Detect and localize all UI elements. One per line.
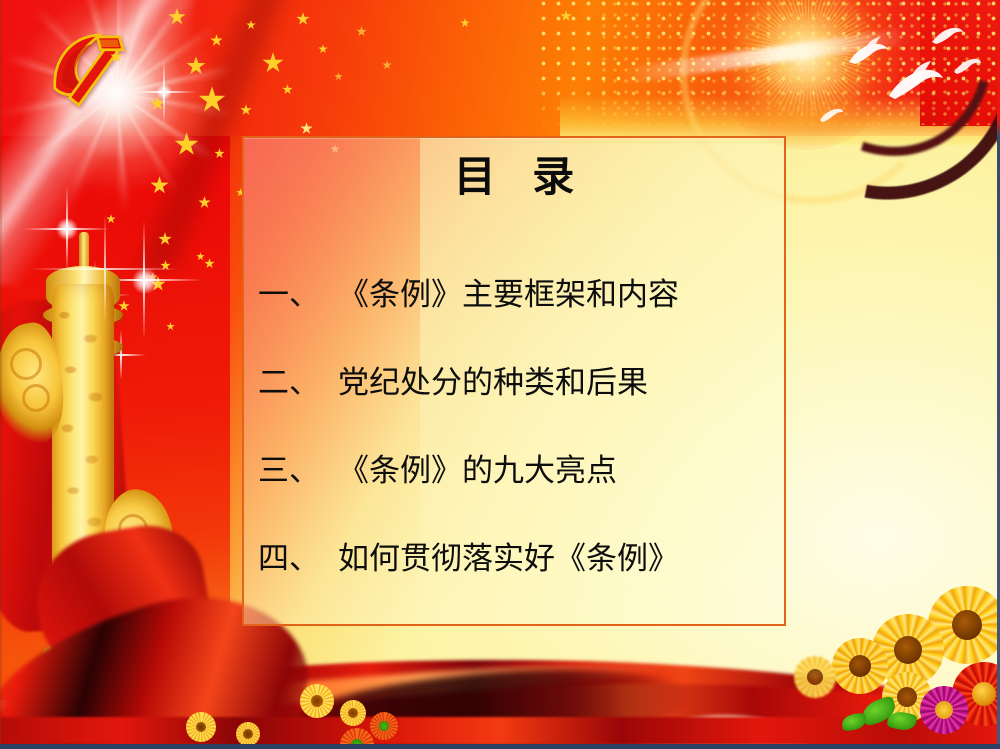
list-item[interactable]: 一、《条例》主要框架和内容 (244, 280, 784, 311)
toc-content-box: 目 录 一、《条例》主要框架和内容 二、党纪处分的种类和后果 三、《条例》的九大… (242, 136, 786, 626)
hammer-and-sickle-icon (42, 24, 134, 116)
white-dove-icon (886, 60, 944, 104)
slide-bottom-rule (0, 744, 1000, 749)
toc-item-number: 三、 (244, 456, 320, 487)
yellow-chrysanthemum (236, 722, 260, 746)
slide-left-edge (0, 0, 2, 749)
white-dove-icon (845, 36, 889, 70)
orange-gerbera (370, 712, 398, 740)
sunflower (794, 656, 836, 698)
flower-core (379, 721, 389, 731)
toc-item-number: 四、 (244, 544, 320, 575)
white-dove-icon (930, 22, 964, 48)
magenta-gerbera (920, 686, 968, 734)
yellow-chrysanthemum (340, 700, 366, 726)
pillar-swirl-ornament (10, 348, 42, 380)
list-item[interactable]: 二、党纪处分的种类和后果 (244, 368, 784, 399)
flower-core (311, 695, 323, 707)
yellow-chrysanthemum (186, 712, 216, 742)
pillar-swirl-ornament (22, 384, 50, 412)
toc-item-number: 一、 (244, 280, 320, 311)
flower-core (807, 669, 823, 685)
toc-list: 一、《条例》主要框架和内容 二、党纪处分的种类和后果 三、《条例》的九大亮点 四… (244, 280, 784, 575)
yellow-chrysanthemum (300, 684, 334, 718)
sparkle-core (156, 84, 172, 100)
flower-core (894, 636, 922, 664)
toc-item-label: 如何贯彻落实好《条例》 (320, 544, 679, 575)
flower-core (952, 610, 982, 640)
list-item[interactable]: 四、如何贯彻落实好《条例》 (244, 544, 784, 575)
toc-item-label: 党纪处分的种类和后果 (320, 368, 648, 399)
flower-core (849, 655, 871, 677)
flower-core (935, 701, 953, 719)
toc-item-label: 《条例》的九大亮点 (320, 456, 617, 487)
sunflower (832, 638, 888, 694)
white-dove-icon (952, 54, 982, 78)
flower-core (972, 682, 996, 706)
slide-canvas: 目 录 一、《条例》主要框架和内容 二、党纪处分的种类和后果 三、《条例》的九大… (0, 0, 1000, 749)
white-dove-icon (818, 104, 844, 126)
flower-core (348, 708, 358, 718)
toc-item-label: 《条例》主要框架和内容 (320, 280, 679, 311)
toc-item-number: 二、 (244, 368, 320, 399)
flower-core (897, 687, 917, 707)
flower-core (196, 722, 206, 732)
page-title: 目 录 (244, 154, 784, 200)
flower-core (243, 729, 253, 739)
list-item[interactable]: 三、《条例》的九大亮点 (244, 456, 784, 487)
